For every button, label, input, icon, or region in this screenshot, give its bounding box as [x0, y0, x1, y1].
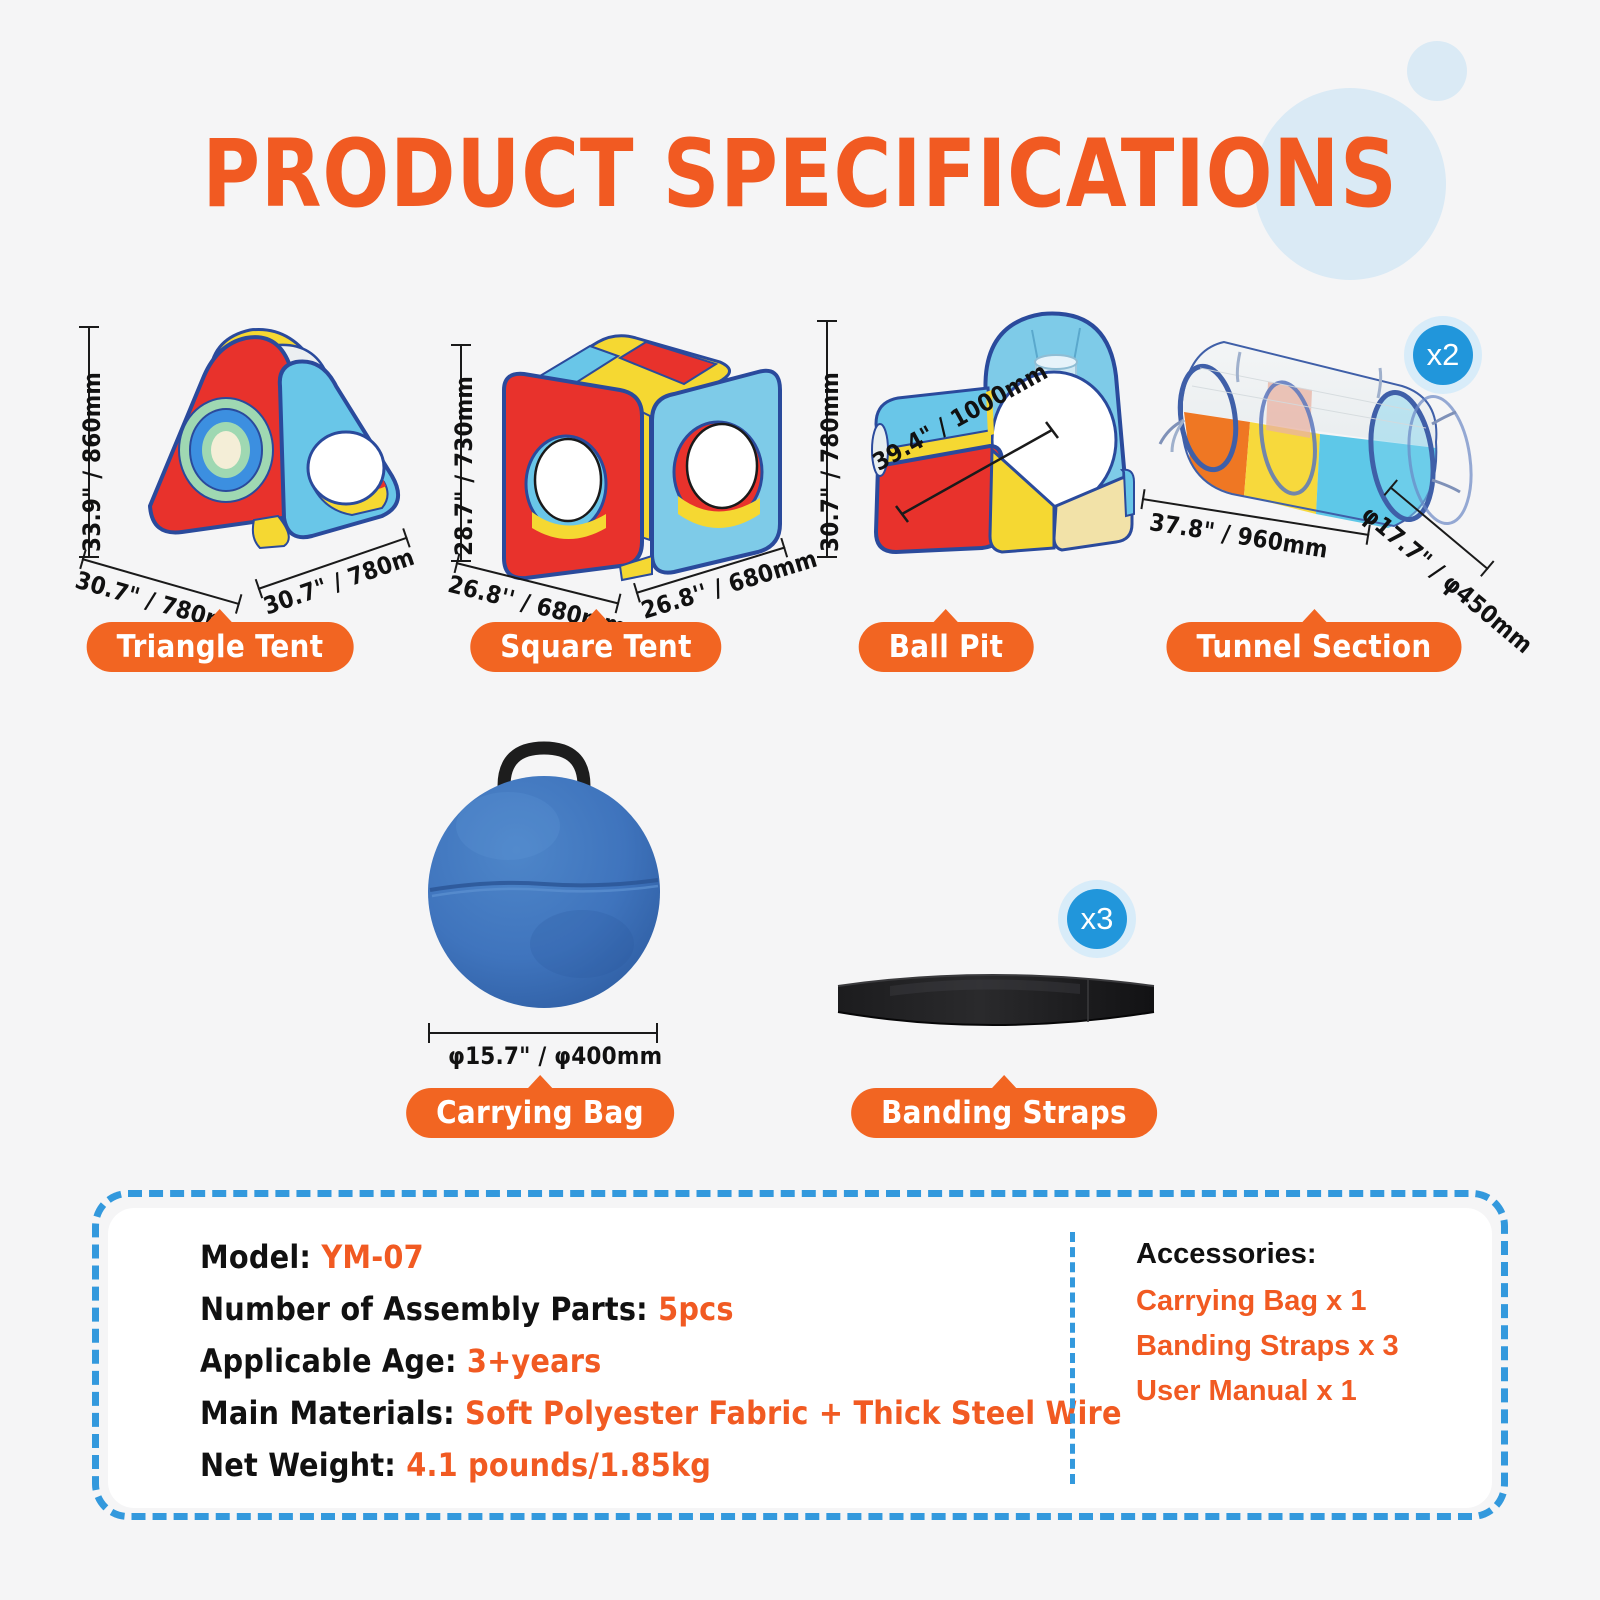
product-triangle-tent: 33.9" / 860mm 30.7" / 780m 30.7" / 780m … [60, 300, 420, 700]
spec-label-model: Model: [200, 1238, 311, 1276]
carrying-bag-diameter-label: φ15.7" / φ400mm [448, 1042, 662, 1070]
ball-pit-illustration [840, 300, 1140, 570]
spec-label-assembly-parts: Number of Assembly Parts: [200, 1290, 648, 1328]
spec-label-main-materials: Main Materials: [200, 1394, 455, 1432]
badge-quantity-label: x2 [1413, 325, 1473, 385]
infographic-page: PRODUCT SPECIFICATIONS 33.9" / 860m [0, 0, 1600, 1600]
product-tunnel-section: x2 37.8" / 960mm φ17.7" / φ450mm Tunnel … [1120, 300, 1550, 700]
spec-value-main-materials: Soft Polyester Fabric + Thick Steel Wire [465, 1394, 1122, 1432]
label-square-tent[interactable]: Square Tent [470, 622, 721, 672]
spec-list: Model: YM-07 Number of Assembly Parts: 5… [200, 1238, 1050, 1498]
spec-row-net-weight: Net Weight: 4.1 pounds/1.85kg [200, 1446, 1050, 1484]
ball-pit-height-label: 30.7" / 780mm [816, 372, 844, 552]
quantity-badge-tunnel: x2 [1404, 316, 1482, 394]
spec-row-assembly-parts: Number of Assembly Parts: 5pcs [200, 1290, 1050, 1328]
triangle-tent-height-label: 33.9" / 860mm [78, 372, 106, 552]
accessory-item-user-manual: User Manual x 1 [1136, 1375, 1496, 1408]
accessory-item-carrying-bag: Carrying Bag x 1 [1136, 1285, 1496, 1318]
accessories-heading: Accessories: [1136, 1238, 1496, 1271]
spec-value-applicable-age: 3+years [467, 1342, 602, 1380]
badge-quantity-label: x3 [1067, 889, 1127, 949]
quantity-badge-straps: x3 [1058, 880, 1136, 958]
spec-label-applicable-age: Applicable Age: [200, 1342, 457, 1380]
carrying-bag-diameter-line [428, 1032, 658, 1034]
spec-row-applicable-age: Applicable Age: 3+years [200, 1342, 1050, 1380]
product-banding-straps: x3 Banding Straps [830, 880, 1190, 1130]
spec-value-assembly-parts: 5pcs [658, 1290, 734, 1328]
spec-panel-divider [1070, 1232, 1075, 1484]
banding-straps-illustration [830, 960, 1170, 1080]
spec-label-net-weight: Net Weight: [200, 1446, 396, 1484]
accessory-item-banding-straps: Banding Straps x 3 [1136, 1330, 1496, 1363]
product-square-tent: 28.7" / 730mm 26.8'' / 680mm 26.8'' / 68… [430, 300, 790, 700]
label-triangle-tent[interactable]: Triangle Tent [87, 622, 354, 672]
spec-value-net-weight: 4.1 pounds/1.85kg [406, 1446, 711, 1484]
label-carrying-bag[interactable]: Carrying Bag [406, 1088, 674, 1138]
product-ball-pit: 30.7" / 780mm 39.4" / 1000mm Ball Pit [800, 290, 1130, 700]
spec-row-model: Model: YM-07 [200, 1238, 1050, 1276]
carrying-bag-illustration [420, 730, 680, 1020]
label-tunnel-section[interactable]: Tunnel Section [1166, 622, 1461, 672]
decorative-circle-small [1407, 41, 1467, 101]
product-carrying-bag: φ15.7" / φ400mm Carrying Bag [400, 730, 700, 1130]
accessories-list: Accessories: Carrying Bag x 1 Banding St… [1136, 1238, 1496, 1420]
label-ball-pit[interactable]: Ball Pit [859, 622, 1034, 672]
label-banding-straps[interactable]: Banding Straps [851, 1088, 1157, 1138]
square-tent-height-label: 28.7" / 730mm [450, 376, 478, 556]
spec-row-main-materials: Main Materials: Soft Polyester Fabric + … [200, 1394, 1050, 1432]
page-title: PRODUCT SPECIFICATIONS [56, 128, 1544, 222]
spec-value-model: YM-07 [321, 1238, 424, 1276]
